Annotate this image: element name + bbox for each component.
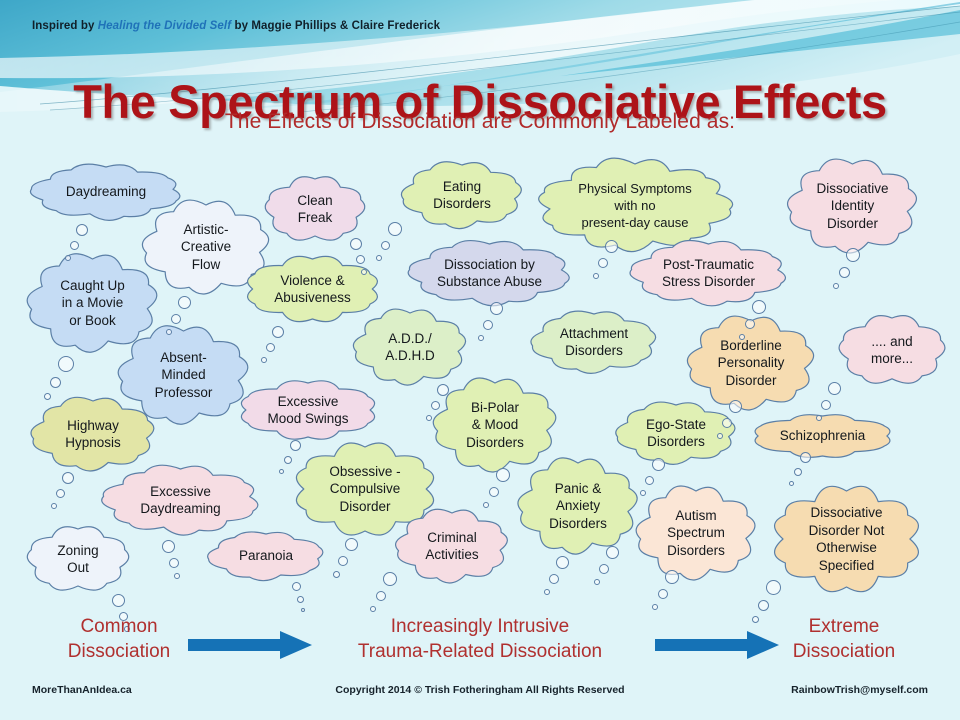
thought-bubble-dot-icon bbox=[266, 343, 275, 352]
thought-bubble-dot-icon bbox=[350, 238, 362, 250]
thought-bubble-dot-icon bbox=[717, 433, 723, 439]
thought-bubble-dot-icon bbox=[665, 570, 679, 584]
thought-bubble-dot-icon bbox=[593, 273, 599, 279]
thought-bubble-dot-icon bbox=[598, 258, 608, 268]
cloud-schizophrenia[interactable]: Schizophrenia bbox=[750, 415, 895, 457]
thought-bubble-dot-icon bbox=[483, 502, 489, 508]
thought-bubble-dot-icon bbox=[437, 384, 449, 396]
thought-bubble-dot-icon bbox=[178, 296, 191, 309]
poster-canvas: Inspired by Healing the Divided Self by … bbox=[0, 0, 960, 720]
cloud-criminal-activities[interactable]: Criminal Activities bbox=[397, 512, 507, 580]
byline-book-title: Healing the Divided Self bbox=[98, 20, 231, 32]
thought-bubble-dot-icon bbox=[490, 302, 503, 315]
cloud-add-adhd[interactable]: A.D.D./ A.D.H.D bbox=[355, 312, 465, 382]
thought-bubble-dot-icon bbox=[112, 594, 125, 607]
thought-bubble-dot-icon bbox=[478, 335, 484, 341]
thought-bubble-dot-icon bbox=[821, 400, 831, 410]
thought-bubble-dot-icon bbox=[76, 224, 88, 236]
thought-bubble-dot-icon bbox=[606, 546, 619, 559]
cloud-zoning-out[interactable]: Zoning Out bbox=[28, 528, 128, 590]
thought-bubble-dot-icon bbox=[56, 489, 65, 498]
cloud-shape-icon bbox=[32, 400, 154, 468]
thought-bubble-dot-icon bbox=[483, 320, 493, 330]
thought-bubble-dot-icon bbox=[370, 606, 376, 612]
cloud-excessive-mood-swings[interactable]: Excessive Mood Swings bbox=[238, 382, 378, 438]
thought-bubble-dot-icon bbox=[846, 248, 860, 262]
thought-bubble-dot-icon bbox=[729, 400, 742, 413]
thought-bubble-dot-icon bbox=[549, 574, 559, 584]
thought-bubble-dot-icon bbox=[171, 314, 181, 324]
thought-bubble-dot-icon bbox=[162, 540, 175, 553]
thought-bubble-dot-icon bbox=[652, 458, 665, 471]
thought-bubble-dot-icon bbox=[652, 604, 658, 610]
thought-bubble-dot-icon bbox=[376, 255, 382, 261]
cloud-shape-icon bbox=[531, 313, 657, 371]
thought-bubble-dot-icon bbox=[658, 589, 668, 599]
cloud-shape-icon bbox=[397, 512, 507, 580]
cloud-excessive-daydreaming[interactable]: Excessive Daydreaming bbox=[102, 468, 259, 532]
cloud-shape-icon bbox=[775, 490, 918, 588]
thought-bubble-dot-icon bbox=[383, 572, 397, 586]
byline: Inspired by Healing the Divided Self by … bbox=[32, 20, 440, 32]
thought-bubble-dot-icon bbox=[381, 241, 390, 250]
thought-bubble-dot-icon bbox=[333, 571, 340, 578]
spectrum-arrow-left bbox=[188, 630, 312, 665]
thought-bubble-dot-icon bbox=[745, 319, 755, 329]
thought-bubble-dot-icon bbox=[338, 556, 348, 566]
cloud-shape-icon bbox=[238, 382, 378, 438]
cloud-panic-anxiety-disorders[interactable]: Panic & Anxiety Disorders bbox=[521, 462, 635, 550]
cloud-violence-abusiveness[interactable]: Violence & Abusiveness bbox=[245, 258, 380, 320]
thought-bubble-dot-icon bbox=[758, 600, 769, 611]
thought-bubble-dot-icon bbox=[594, 579, 600, 585]
cloud-shape-icon bbox=[690, 320, 812, 406]
cloud-autism-spectrum[interactable]: Autism Spectrum Disorders bbox=[639, 490, 753, 576]
footer-email: RainbowTrish@myself.com bbox=[791, 684, 928, 696]
cloud-dissociative-disorder-nos[interactable]: Dissociative Disorder Not Otherwise Spec… bbox=[775, 490, 918, 588]
thought-bubble-dot-icon bbox=[766, 580, 781, 595]
thought-bubble-dot-icon bbox=[301, 608, 305, 612]
thought-bubble-dot-icon bbox=[70, 241, 79, 250]
thought-bubble-dot-icon bbox=[166, 329, 172, 335]
thought-bubble-dot-icon bbox=[62, 472, 74, 484]
cloud-shape-icon bbox=[790, 163, 915, 249]
thought-bubble-dot-icon bbox=[800, 452, 811, 463]
cloud-shape-icon bbox=[630, 243, 787, 303]
cloud-shape-icon bbox=[840, 317, 944, 383]
cloud-shape-icon bbox=[750, 415, 895, 457]
cloud-dissociative-identity[interactable]: Dissociative Identity Disorder bbox=[790, 163, 915, 249]
byline-authors: by Maggie Phillips & Claire Frederick bbox=[231, 20, 440, 32]
thought-bubble-dot-icon bbox=[489, 487, 499, 497]
thought-bubble-dot-icon bbox=[174, 573, 180, 579]
cloud-shape-icon bbox=[408, 243, 571, 303]
thought-bubble-dot-icon bbox=[645, 476, 654, 485]
cloud-and-more[interactable]: .... and more... bbox=[840, 317, 944, 383]
thought-bubble-dot-icon bbox=[828, 382, 841, 395]
thought-bubble-dot-icon bbox=[752, 300, 766, 314]
thought-bubble-dot-icon bbox=[789, 481, 794, 486]
thought-bubble-dot-icon bbox=[169, 558, 179, 568]
cloud-eating-disorders[interactable]: Eating Disorders bbox=[402, 164, 522, 226]
cloud-shape-icon bbox=[436, 382, 554, 468]
thought-bubble-dot-icon bbox=[794, 468, 802, 476]
cloud-shape-icon bbox=[521, 462, 635, 550]
thought-bubble-dot-icon bbox=[50, 377, 61, 388]
thought-bubble-dot-icon bbox=[272, 326, 284, 338]
thought-bubble-dot-icon bbox=[376, 591, 386, 601]
cloud-shape-icon bbox=[245, 258, 380, 320]
thought-bubble-dot-icon bbox=[496, 468, 510, 482]
thought-bubble-dot-icon bbox=[388, 222, 402, 236]
byline-prefix: Inspired by bbox=[32, 20, 98, 32]
cloud-dissociation-substance-abuse[interactable]: Dissociation by Substance Abuse bbox=[408, 243, 571, 303]
thought-bubble-dot-icon bbox=[544, 589, 550, 595]
thought-bubble-dot-icon bbox=[816, 415, 822, 421]
thought-bubble-dot-icon bbox=[279, 469, 284, 474]
cloud-clean-freak[interactable]: Clean Freak bbox=[266, 178, 364, 240]
cloud-paranoia[interactable]: Paranoia bbox=[207, 533, 325, 579]
thought-bubble-dot-icon bbox=[290, 440, 301, 451]
cloud-post-traumatic-stress[interactable]: Post-Traumatic Stress Disorder bbox=[630, 243, 787, 303]
cloud-shape-icon bbox=[402, 164, 522, 226]
thought-bubble-dot-icon bbox=[605, 240, 618, 253]
cloud-shape-icon bbox=[102, 468, 259, 532]
thought-bubble-dot-icon bbox=[839, 267, 850, 278]
cloud-shape-icon bbox=[355, 312, 465, 382]
cloud-physical-symptoms[interactable]: Physical Symptoms with no present-day ca… bbox=[539, 163, 731, 247]
cloud-borderline-personality[interactable]: Borderline Personality Disorder bbox=[690, 320, 812, 406]
cloud-shape-icon bbox=[28, 528, 128, 590]
thought-bubble-dot-icon bbox=[44, 393, 51, 400]
thought-bubble-dot-icon bbox=[426, 415, 432, 421]
cloud-shape-icon bbox=[207, 533, 325, 579]
page-subtitle: The Effects of Dissociation are Commonly… bbox=[0, 108, 960, 136]
thought-bubble-dot-icon bbox=[292, 582, 301, 591]
thought-bubble-dot-icon bbox=[58, 356, 74, 372]
thought-bubble-dot-icon bbox=[345, 538, 358, 551]
thought-bubble-dot-icon bbox=[284, 456, 292, 464]
thought-bubble-dot-icon bbox=[431, 401, 440, 410]
cloud-highway-hypnosis[interactable]: Highway Hypnosis bbox=[32, 400, 154, 468]
thought-bubble-dot-icon bbox=[51, 503, 57, 509]
cloud-shape-icon bbox=[639, 490, 753, 576]
thought-bubble-dot-icon bbox=[297, 596, 304, 603]
thought-bubble-dot-icon bbox=[65, 255, 71, 261]
spectrum-arrow-right bbox=[655, 630, 779, 665]
spectrum-label-intrusive: Increasingly Intrusive Trauma-Related Di… bbox=[330, 614, 630, 664]
cloud-attachment-disorders[interactable]: Attachment Disorders bbox=[531, 313, 657, 371]
thought-bubble-dot-icon bbox=[556, 556, 569, 569]
cloud-shape-icon bbox=[266, 178, 364, 240]
cloud-shape-icon bbox=[539, 163, 731, 247]
thought-bubble-dot-icon bbox=[833, 283, 839, 289]
cloud-bi-polar-mood-disorders[interactable]: Bi-Polar & Mood Disorders bbox=[436, 382, 554, 468]
thought-bubble-dot-icon bbox=[261, 357, 267, 363]
thought-bubble-dot-icon bbox=[599, 564, 609, 574]
